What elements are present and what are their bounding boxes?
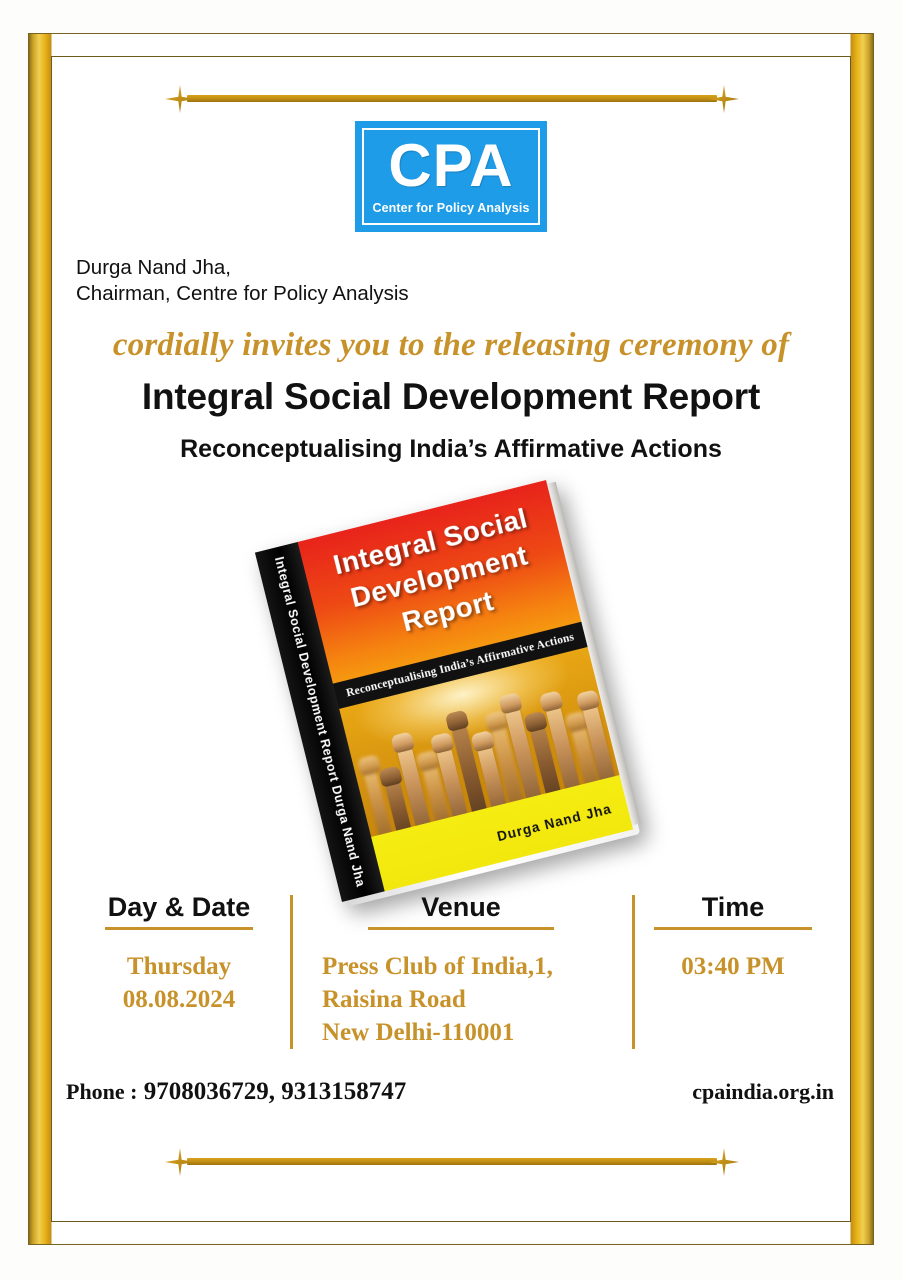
host-role: Chairman, Centre for Policy Analysis	[76, 281, 409, 307]
logo-mark-text: CPA	[362, 131, 540, 201]
detail-value-time: 03:40 PM	[642, 950, 824, 983]
detail-column-day-date: Day & Date Thursday 08.08.2024	[68, 891, 290, 1051]
detail-underline	[105, 927, 253, 930]
event-details-row: Day & Date Thursday 08.08.2024 Venue Pre…	[68, 891, 834, 1051]
detail-heading-day-date: Day & Date	[78, 891, 280, 923]
detail-underline	[368, 927, 554, 930]
top-ornament-divider	[157, 79, 747, 117]
cover-author-name: Durga Nand Jha	[496, 801, 614, 844]
book-mockup: Integral Social Development Report Durga…	[202, 489, 702, 889]
bottom-ornament-divider	[157, 1142, 747, 1180]
phone-numbers: 9708036729, 9313158747	[144, 1078, 407, 1105]
detail-value-day-date: Thursday 08.08.2024	[78, 950, 280, 1016]
logo-container: CPA Center for Policy Analysis	[52, 121, 850, 232]
report-title: Integral Social Development Report	[52, 374, 850, 420]
host-block: Durga Nand Jha, Chairman, Centre for Pol…	[76, 255, 409, 307]
detail-value-venue: Press Club of India,1, Raisina Road New …	[300, 950, 622, 1049]
footer-contact-row: Phone : 9708036729, 9313158747 cpaindia.…	[66, 1077, 840, 1107]
detail-column-time: Time 03:40 PM	[632, 891, 834, 1051]
invitation-line: cordially invites you to the releasing c…	[52, 325, 850, 365]
ornament-bar	[187, 95, 717, 102]
host-name: Durga Nand Jha,	[76, 255, 409, 281]
detail-column-venue: Venue Press Club of India,1, Raisina Roa…	[290, 891, 632, 1051]
logo-subtitle-text: Center for Policy Analysis	[362, 201, 540, 215]
cpa-logo: CPA Center for Policy Analysis	[355, 121, 547, 232]
report-subtitle: Reconceptualising India’s Affirmative Ac…	[52, 433, 850, 465]
detail-heading-venue: Venue	[300, 891, 622, 923]
phone-block: Phone : 9708036729, 9313158747	[66, 1077, 406, 1107]
website-link[interactable]: cpaindia.org.in	[692, 1078, 840, 1106]
ornament-bar	[187, 1158, 717, 1165]
detail-heading-time: Time	[642, 891, 824, 923]
star-ornament-icon	[709, 85, 739, 113]
poster-content: CPA Center for Policy Analysis Durga Nan…	[52, 57, 850, 1221]
book-3d: Integral Social Development Report Durga…	[255, 480, 633, 902]
poster-page: CPA Center for Policy Analysis Durga Nan…	[0, 0, 902, 1280]
phone-label: Phone :	[66, 1079, 138, 1104]
star-ornament-icon	[709, 1148, 739, 1176]
detail-underline	[654, 927, 812, 930]
